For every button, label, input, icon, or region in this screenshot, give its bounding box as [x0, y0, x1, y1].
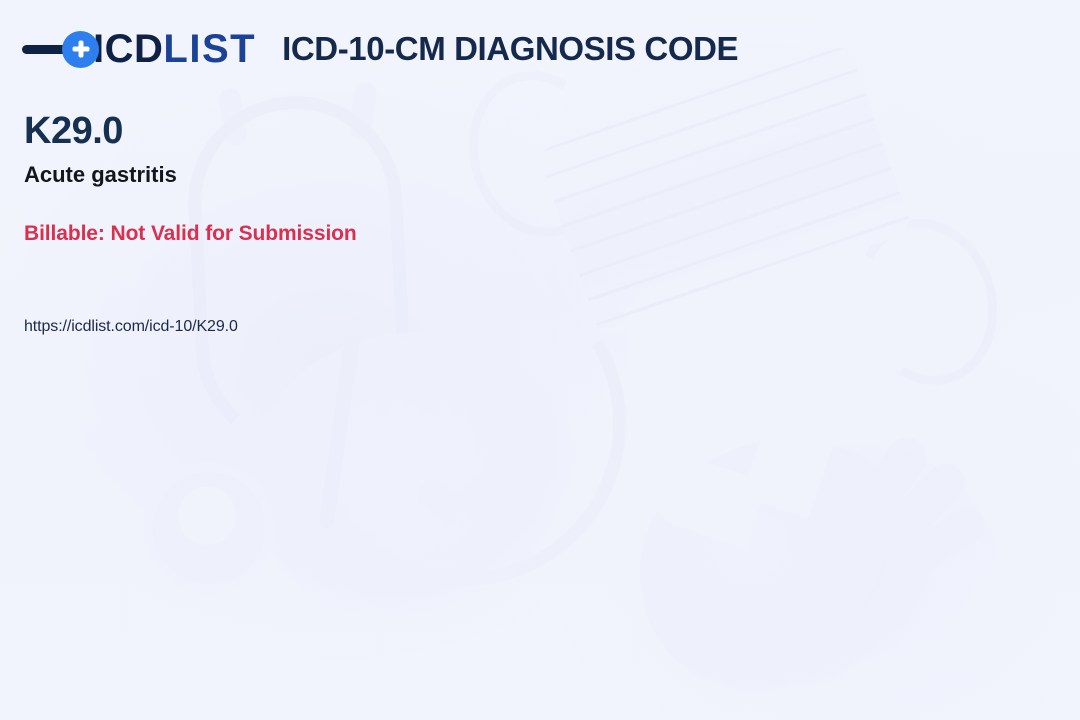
- page-title: ICD-10-CM DIAGNOSIS CODE: [282, 30, 738, 68]
- background-tint: [0, 0, 1080, 720]
- surgical-mask-icon: [537, 44, 913, 339]
- diagnosis-description: Acute gastritis: [24, 162, 177, 188]
- stethoscope-tube-left-icon: [183, 91, 415, 458]
- stethoscope-bell-neck-icon: [194, 439, 228, 512]
- stethoscope-stem-icon: [318, 330, 361, 530]
- stethoscope-diaphragm-icon: [178, 487, 236, 545]
- icdlist-logo[interactable]: ICDLIST: [22, 26, 256, 72]
- hand-finger-icon: [862, 456, 973, 569]
- background-overlay-wash: [0, 0, 1080, 720]
- hand-finger-icon: [884, 501, 991, 587]
- paper-heart-icon: [669, 411, 837, 579]
- billable-status-badge: Billable: Not Valid for Submission: [24, 222, 357, 246]
- logo-word-icd: ICD: [93, 27, 163, 71]
- header: ICDLIST ICD-10-CM DIAGNOSIS CODE: [22, 26, 738, 72]
- stethoscope-earpiece-right-icon: [348, 81, 378, 141]
- stethoscope-coil-icon: [250, 332, 580, 632]
- hand-palm-icon: [624, 421, 946, 709]
- mask-earloop-right-icon: [838, 202, 1017, 402]
- mask-earloop-left-icon: [450, 54, 629, 254]
- logo-word-list: LIST: [163, 27, 256, 71]
- paper-heart-small-b-icon: [429, 475, 490, 536]
- stethoscope-tube-right-icon: [265, 225, 660, 620]
- background-photo: [0, 0, 1080, 720]
- logo-wordmark: ICDLIST: [93, 29, 256, 69]
- stethoscope-earpiece-left-icon: [217, 87, 249, 148]
- page-url-link[interactable]: https://icdlist.com/icd-10/K29.0: [24, 318, 238, 336]
- plus-icon: [62, 31, 99, 68]
- diagnosis-code-block: K29.0 Acute gastritis: [24, 112, 177, 188]
- icd-code-card: ICDLIST ICD-10-CM DIAGNOSIS CODE K29.0 A…: [0, 0, 1080, 720]
- diagnosis-code: K29.0: [24, 112, 177, 152]
- paper-heart-small-a-icon: [407, 361, 475, 429]
- stethoscope-bell-icon: [143, 462, 275, 594]
- hand-finger-icon: [830, 430, 935, 558]
